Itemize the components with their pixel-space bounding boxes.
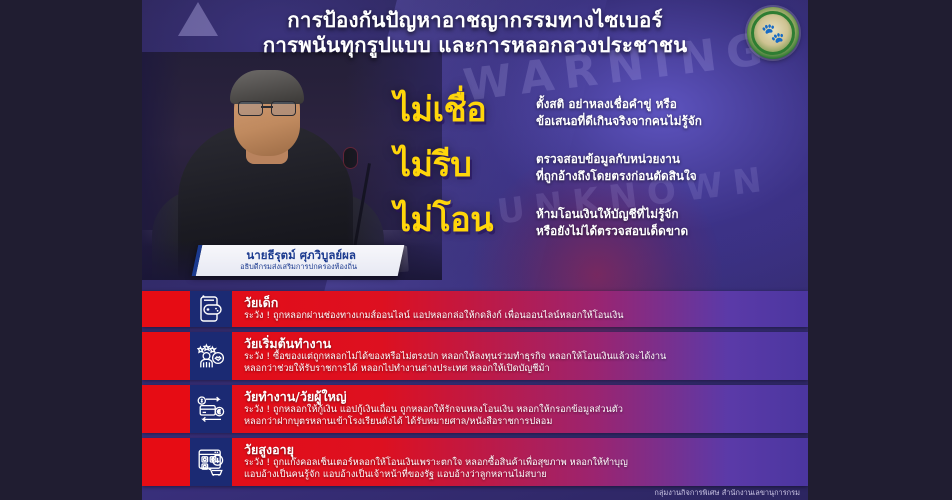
age-group-title-4: วัยสูงอายุ [244,442,798,457]
slogan-list: ไม่เชื่อ ตั้งสติ อย่าหลงเชื่อคำขู่ หรือ … [394,88,800,242]
slogan-item-1: ไม่เชื่อ ตั้งสติ อย่าหลงเชื่อคำขู่ หรือ … [394,88,800,132]
slogan-desc-2: ตรวจสอบข้อมูลกับหน่วยงาน ที่ถูกอ้างถึงโด… [536,143,800,184]
slogan-desc-1-line-1: ตั้งสติ อย่าหลงเชื่อคำขู่ หรือ [536,96,800,113]
age-group-row-early-career: วัยเริ่มต้นทำงาน ระวัง ! ซื้อของแต่ถูกหล… [142,332,808,380]
glasses-lens-right [271,101,296,116]
row-lead-strip-4 [142,438,190,486]
age-group-desc-3-line-1: ระวัง ! ถูกหลอกให้กู้เงิน แอปกู้เงินเถื่… [244,404,798,416]
age-group-desc-2-line-1: ระวัง ! ซื้อของแต่ถูกหลอกไม่ได้ของหรือไม… [244,351,798,363]
slogan-item-3: ไม่โอน ห้ามโอนเงินให้บัญชีที่ไม่รู้จัก ห… [394,198,800,242]
slogan-desc-2-line-2: ที่ถูกอ้างถึงโดยตรงก่อนตัดสินใจ [536,168,800,185]
age-group-title-2: วัยเริ่มต้นทำงาน [244,336,798,351]
row-lead-strip-1 [142,291,190,327]
slogan-key-1: ไม่เชื่อ [394,88,536,132]
age-group-desc-1: ระวัง ! ถูกหลอกผ่านช่องทางเกมส์ออนไลน์ แ… [244,310,798,322]
glasses-lens-left [238,101,263,116]
age-group-desc-2-line-2: หลอกว่าช่วยให้รับราชการได้ หลอกไปทำงานต่… [244,363,798,375]
age-group-row-child: วัยเด็ก ระวัง ! ถูกหลอกผ่านช่องทางเกมส์อ… [142,291,808,327]
age-group-text-2: วัยเริ่มต้นทำงาน ระวัง ! ซื้อของแต่ถูกหล… [232,332,808,380]
age-group-desc-1-line-1: ระวัง ! ถูกหลอกผ่านช่องทางเกมส์ออนไลน์ แ… [244,310,798,322]
slogan-key-3: ไม่โอน [394,198,536,242]
age-group-desc-4-line-2: แอบอ้างเป็นคนรู้จัก แอบอ้างเป็นเจ้าหน้าท… [244,469,798,481]
footer-credit: กลุ่มงานกิจการพิเศษ สำนักงานเลขานุการกรม [654,488,800,498]
online-shopping-icon [190,438,232,486]
person-rating-handshake-icon [190,332,232,380]
age-group-list: วัยเด็ก ระวัง ! ถูกหลอกผ่านช่องทางเกมส์อ… [142,291,808,486]
infographic-poster: WARNING UNKNOWN การป้องกันปัญหาอาชญากรรม… [142,0,808,500]
slogan-desc-1: ตั้งสติ อย่าหลงเชื่อคำขู่ หรือ ข้อเสนอที… [536,88,800,129]
slogan-key-2: ไม่รีบ [394,143,536,187]
row-lead-strip-2 [142,332,190,380]
slogan-item-2: ไม่รีบ ตรวจสอบข้อมูลกับหน่วยงาน ที่ถูกอ้… [394,143,800,187]
slogan-desc-3-line-1: ห้ามโอนเงินให้บัญชีที่ไม่รู้จัก [536,206,800,223]
slogan-desc-3-line-2: หรือยังไม่ได้ตรวจสอบเด็ดขาด [536,223,800,240]
page-title: การป้องกันปัญหาอาชญากรรมทางไซเบอร์ การพน… [142,8,808,58]
title-line-1: การป้องกันปัญหาอาชญากรรมทางไซเบอร์ [142,8,808,33]
department-seal-icon: 🐾 [747,7,799,59]
letterbox-stage: WARNING UNKNOWN การป้องกันปัญหาอาชญากรรม… [0,0,952,500]
age-group-desc-2: ระวัง ! ซื้อของแต่ถูกหลอกไม่ได้ของหรือไม… [244,351,798,375]
age-group-title-1: วัยเด็ก [244,295,798,310]
age-group-title-3: วัยทำงาน/วัยผู้ใหญ่ [244,389,798,404]
glasses-icon [238,101,296,114]
age-group-desc-3: ระวัง ! ถูกหลอกให้กู้เงิน แอปกู้เงินเถื่… [244,404,798,428]
money-transfer-icon [190,385,232,433]
title-line-2: การพนันทุกรูปแบบ และการหลอกลวงประชาชน [142,33,808,58]
age-group-text-4: วัยสูงอายุ ระวัง ! ถูกแก๊งคอลเซ็นเตอร์หล… [232,438,808,486]
slogan-desc-2-line-1: ตรวจสอบข้อมูลกับหน่วยงาน [536,151,800,168]
slogan-desc-1-line-2: ข้อเสนอที่ดีเกินจริงจากคนไม่รู้จัก [536,113,800,130]
age-group-desc-4: ระวัง ! ถูกแก๊งคอลเซ็นเตอร์หลอกให้โอนเงิ… [244,457,798,481]
age-group-row-working-adult: วัยทำงาน/วัยผู้ใหญ่ ระวัง ! ถูกหลอกให้กู… [142,385,808,433]
speaker-role: อธิบดีกรมส่งเสริมการปกครองท้องถิ่น [208,262,390,272]
age-group-text-1: วัยเด็ก ระวัง ! ถูกหลอกผ่านช่องทางเกมส์อ… [232,291,808,327]
age-group-desc-3-line-2: หลอกว่าฝากบุตรหลานเข้าโรงเรียนดังได้ ได้… [244,416,798,428]
glasses-bridge [261,106,273,108]
age-group-desc-4-line-1: ระวัง ! ถูกแก๊งคอลเซ็นเตอร์หลอกให้โอนเงิ… [244,457,798,469]
phone-gamepad-icon [190,291,232,327]
slogan-desc-3: ห้ามโอนเงินให้บัญชีที่ไม่รู้จัก หรือยังไ… [536,198,800,239]
speaker-nameplate: นายธีรุตม์ ศุภวิบูลย์ผล อธิบดีกรมส่งเสริ… [192,245,405,276]
speaker-name: นายธีรุตม์ ศุภวิบูลย์ผล [210,248,392,262]
age-group-text-3: วัยทำงาน/วัยผู้ใหญ่ ระวัง ! ถูกหลอกให้กู… [232,385,808,433]
age-group-row-elderly: วัยสูงอายุ ระวัง ! ถูกแก๊งคอลเซ็นเตอร์หล… [142,438,808,486]
row-lead-strip-3 [142,385,190,433]
seal-lion-glyph: 🐾 [761,25,785,44]
